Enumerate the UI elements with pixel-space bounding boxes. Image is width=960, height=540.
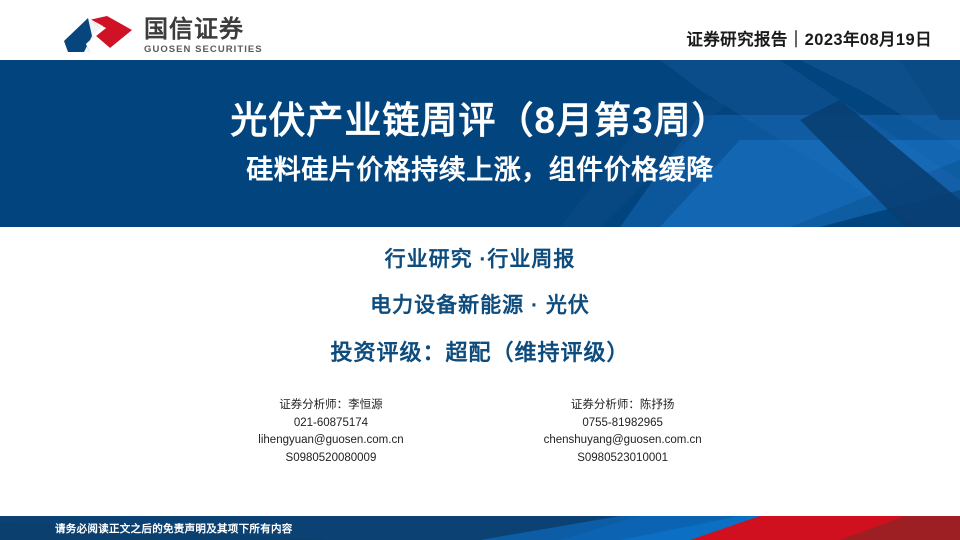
banner-title-group: 光伏产业链周评（8月第3周） 硅料硅片价格持续上涨，组件价格缓降	[0, 60, 960, 227]
brand-name-en: GUOSEN SECURITIES	[144, 44, 263, 55]
analyst-name: 证券分析师：李恒源	[279, 398, 383, 414]
report-type-date: 证券研究报告｜2023年08月19日	[686, 26, 932, 50]
analyst-card: 证券分析师：陈抒扬 0755-81982965 chenshuyang@guos…	[544, 398, 702, 466]
page-footer: 请务必阅读正文之后的免责声明及其项下所有内容	[0, 516, 960, 540]
analyst-license: S0980520080009	[286, 451, 377, 467]
meta-sector: 电力设备新能源 · 光伏	[370, 289, 590, 319]
report-meta: 行业研究 ·行业周报 电力设备新能源 · 光伏 投资评级：超配（维持评级）	[0, 243, 960, 367]
analyst-phone: 0755-81982965	[582, 416, 663, 432]
analyst-license: S0980523010001	[577, 451, 668, 467]
brand-name-cn: 国信证券	[144, 17, 263, 42]
report-title: 光伏产业链周评（8月第3周）	[230, 101, 729, 142]
footer-disclaimer: 请务必阅读正文之后的免责声明及其项下所有内容	[55, 516, 293, 540]
meta-investment-rating: 投资评级：超配（维持评级）	[330, 335, 629, 367]
meta-research-type: 行业研究 ·行业周报	[385, 243, 576, 273]
report-subtitle: 硅料硅片价格持续上涨，组件价格缓降	[246, 156, 714, 186]
analyst-email[interactable]: chenshuyang@guosen.com.cn	[544, 433, 702, 449]
brand-logo-text: 国信证券 GUOSEN SECURITIES	[144, 15, 263, 56]
analyst-name: 证券分析师：陈抒扬	[571, 398, 675, 414]
brand-logo: 国信证券 GUOSEN SECURITIES	[62, 14, 263, 56]
page-header: 国信证券 GUOSEN SECURITIES 证券研究报告｜2023年08月19…	[0, 0, 960, 60]
analyst-contacts: 证券分析师：李恒源 021-60875174 lihengyuan@guosen…	[0, 398, 960, 466]
analyst-phone: 021-60875174	[294, 416, 368, 432]
guosen-logo-mark-icon	[62, 14, 134, 56]
analyst-email[interactable]: lihengyuan@guosen.com.cn	[258, 433, 403, 449]
title-banner: 光伏产业链周评（8月第3周） 硅料硅片价格持续上涨，组件价格缓降	[0, 60, 960, 227]
analyst-card: 证券分析师：李恒源 021-60875174 lihengyuan@guosen…	[258, 398, 403, 466]
